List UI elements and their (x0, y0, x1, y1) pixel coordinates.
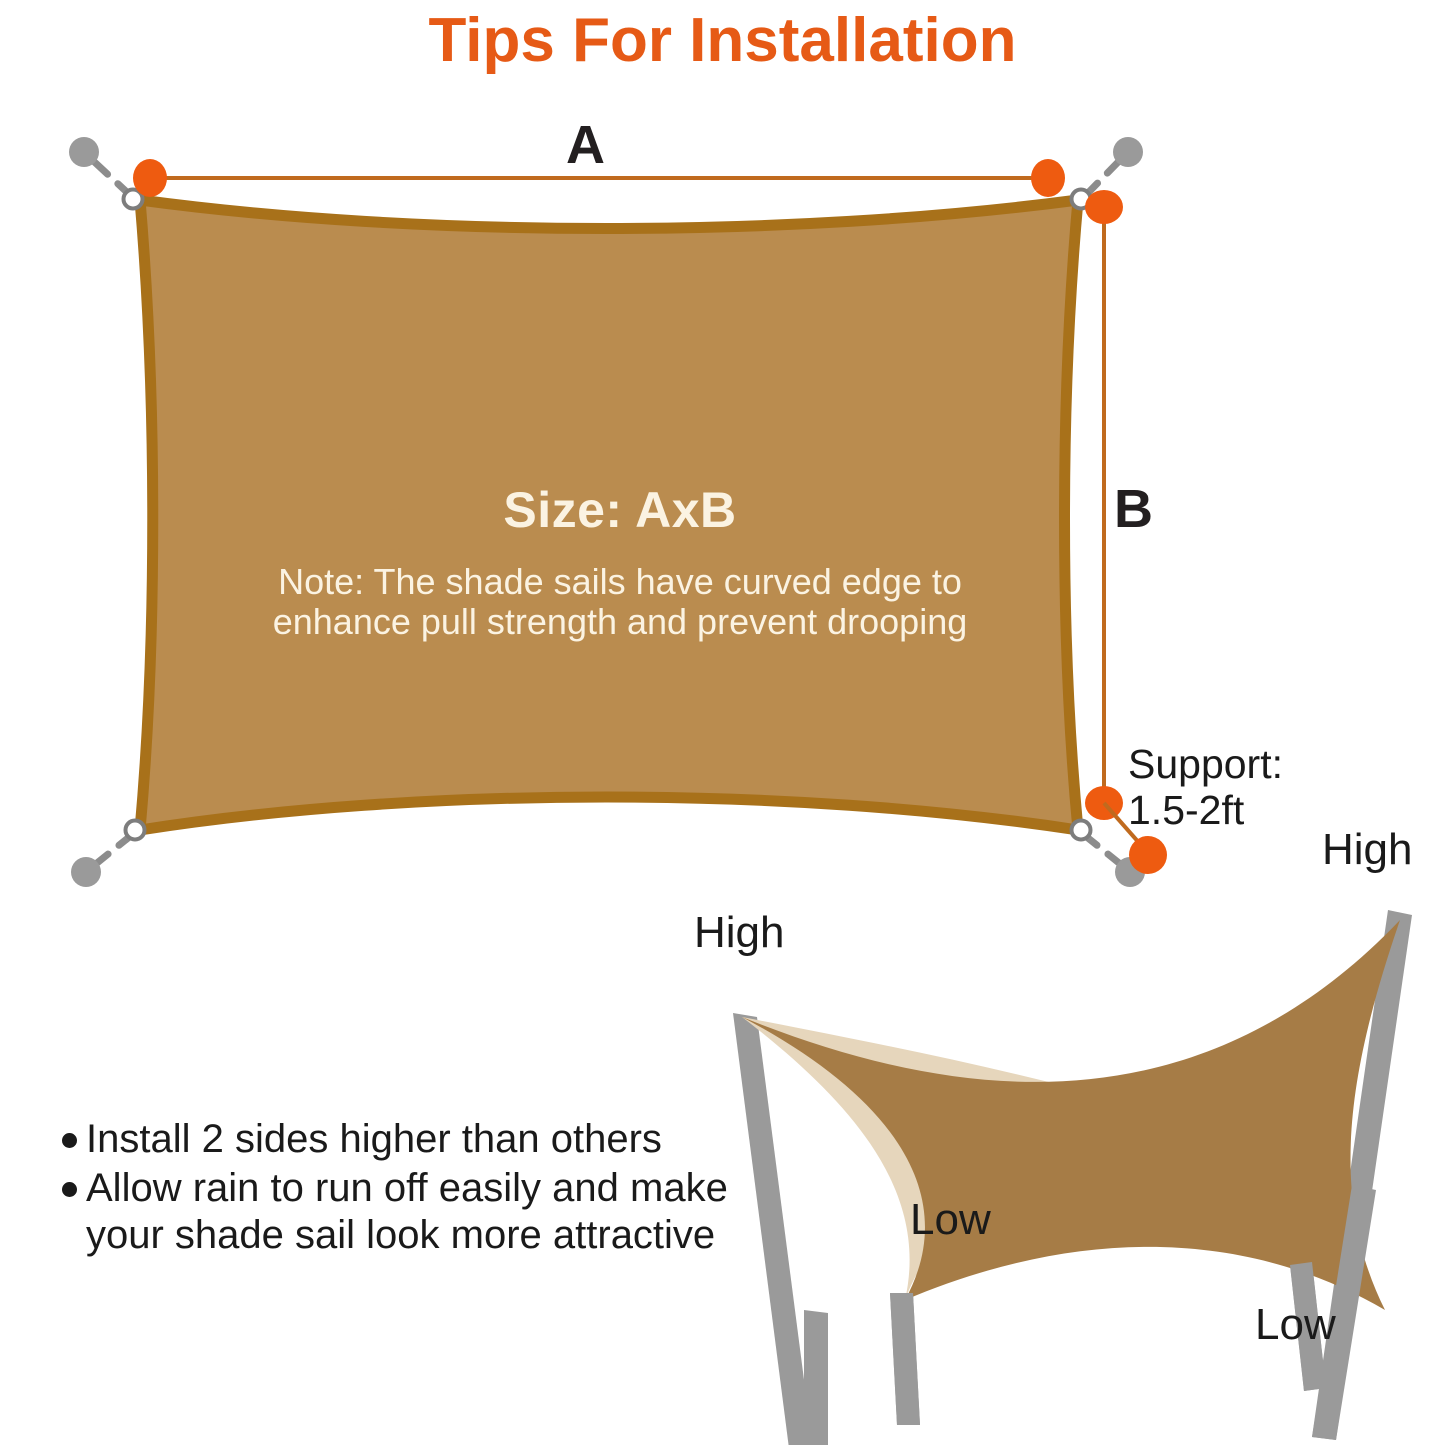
anchor-dot-bottom-left (71, 857, 101, 887)
hypar-sail-illustration (733, 910, 1412, 1445)
list-item: Allow rain to run off easily and make yo… (62, 1165, 762, 1259)
rope-bottom-right (1083, 834, 1124, 867)
pole-high-left-front (804, 1310, 828, 1445)
bullet-text: Allow rain to run off easily and make yo… (86, 1165, 762, 1259)
infographic-page: Tips For Installation (0, 0, 1445, 1445)
d-ring-bottom-right (1072, 821, 1091, 840)
dimension-a-label: A (566, 118, 605, 172)
d-ring-bottom-left (126, 821, 145, 840)
dimension-b-label: B (1114, 482, 1153, 536)
tips-bullet-list: Install 2 sides higher than others Allow… (62, 1116, 762, 1262)
anchor-dot-top-left (69, 137, 99, 167)
bullet-text: Install 2 sides higher than others (86, 1116, 762, 1163)
bullet-dot-icon (62, 1133, 77, 1148)
rope-bottom-left (92, 834, 133, 867)
support-drop-marker (1129, 836, 1167, 874)
hypar-label-high-right: High (1322, 825, 1413, 874)
dimension-a-marker-right (1031, 159, 1065, 197)
dimension-a-marker-left (133, 159, 167, 197)
hypar-label-low-left: Low (910, 1195, 991, 1244)
list-item: Install 2 sides higher than others (62, 1116, 762, 1163)
sail-note-text: Note: The shade sails have curved edge t… (215, 562, 1025, 643)
sail-size-label: Size: AxB (240, 482, 1000, 538)
support-height-label: Support: 1.5-2ft (1128, 742, 1283, 834)
hypar-membrane (742, 920, 1400, 1310)
anchor-dot-top-right (1113, 137, 1143, 167)
bullet-dot-icon (62, 1182, 77, 1197)
hypar-label-high-left: High (694, 908, 785, 957)
pole-low-left-front (890, 1293, 920, 1425)
hypar-label-low-right: Low (1255, 1300, 1336, 1349)
dimension-b-marker-top (1085, 190, 1123, 224)
